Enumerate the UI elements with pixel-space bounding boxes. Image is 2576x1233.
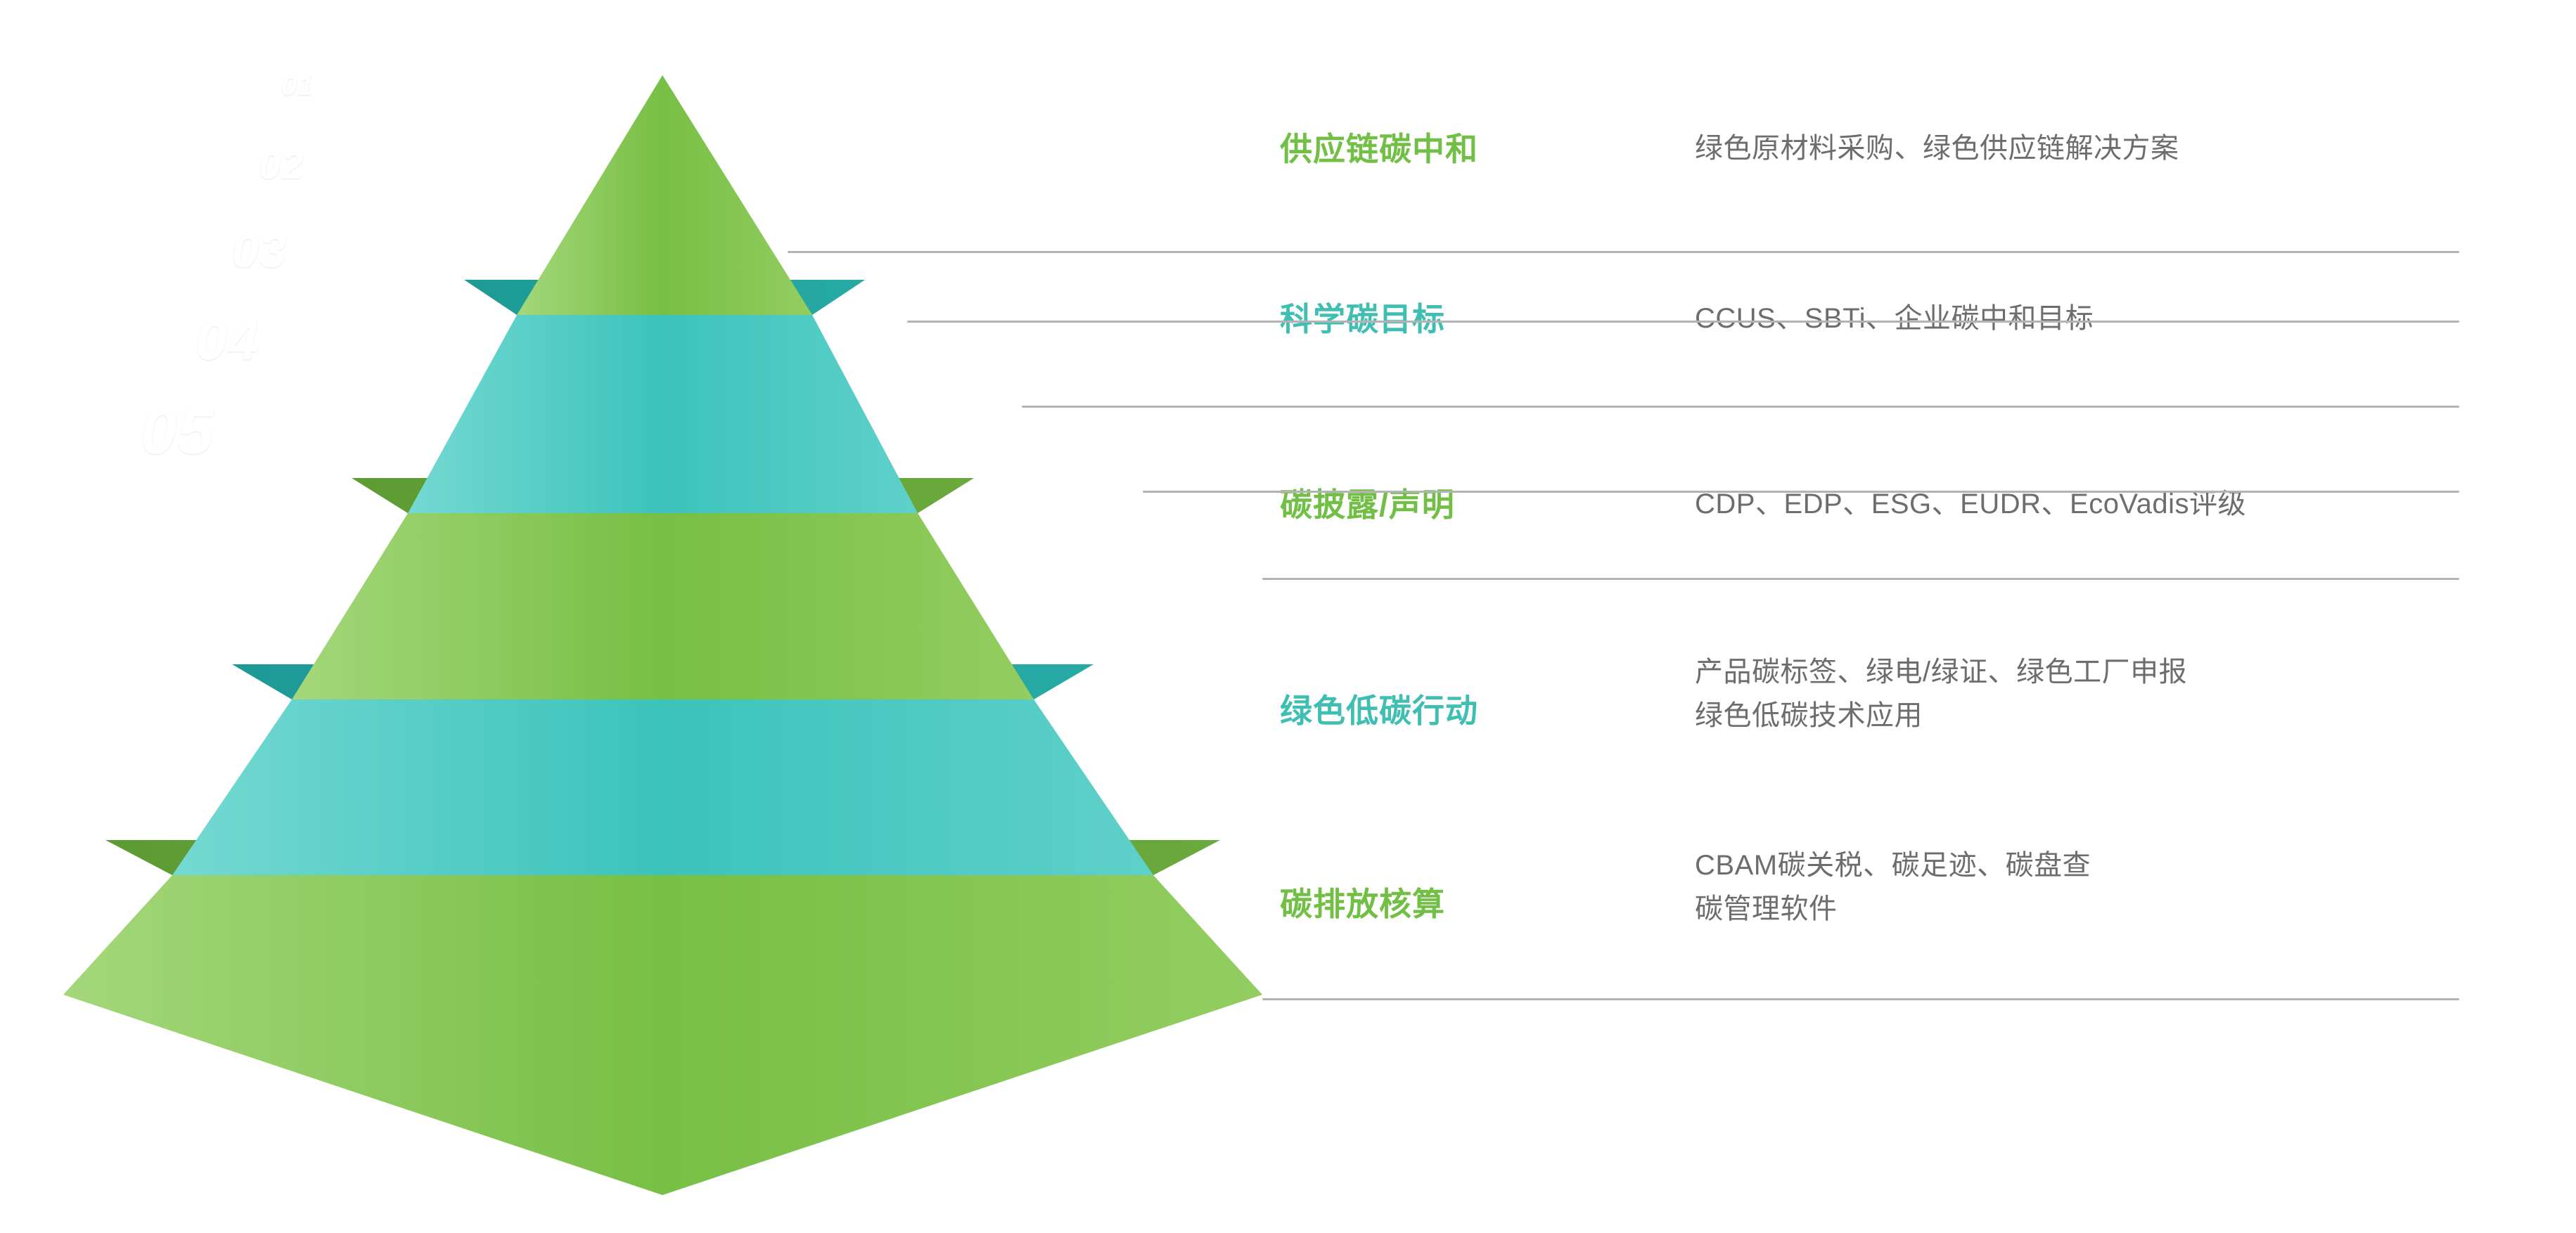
row-title-02: 科学碳目标 (1280, 294, 1445, 340)
row-divider-05 (1262, 578, 2459, 580)
row-divider-03 (1022, 406, 2459, 408)
row-title-03: 碳披露/声明 (1280, 479, 1455, 526)
infographic-canvas: 01 02 03 04 05 供应链碳中和 绿色原材料采购、绿色供应链解决方案 … (0, 0, 2576, 1233)
row-description-05: CBAM碳关税、碳足迹、碳盘查 碳管理软件 (1695, 844, 2091, 931)
row-description-04: 产品碳标签、绿电/绿证、绿色工厂申报 绿色低碳技术应用 (1695, 650, 2187, 737)
row-title-05: 碳排放核算 (1280, 879, 1445, 925)
row-title-01: 供应链碳中和 (1280, 124, 1478, 170)
row-divider-01 (788, 251, 2459, 253)
pyramid-diagram: 01 02 03 04 05 (0, 0, 1301, 1233)
row-divider-baseline (1262, 998, 2459, 1000)
pyramid-tier-01 (517, 75, 812, 315)
row-divider-02 (907, 321, 2459, 323)
row-divider-04 (1143, 491, 2459, 493)
pyramid-tier-05 (63, 840, 1262, 1195)
row-title-04: 绿色低碳行动 (1280, 685, 1478, 732)
row-description-02: CCUS、SBTi、企业碳中和目标 (1695, 297, 2094, 340)
row-description-01: 绿色原材料采购、绿色供应链解决方案 (1695, 127, 2179, 170)
row-description-03: CDP、EDP、ESG、EUDR、EcoVadis评级 (1695, 482, 2246, 526)
